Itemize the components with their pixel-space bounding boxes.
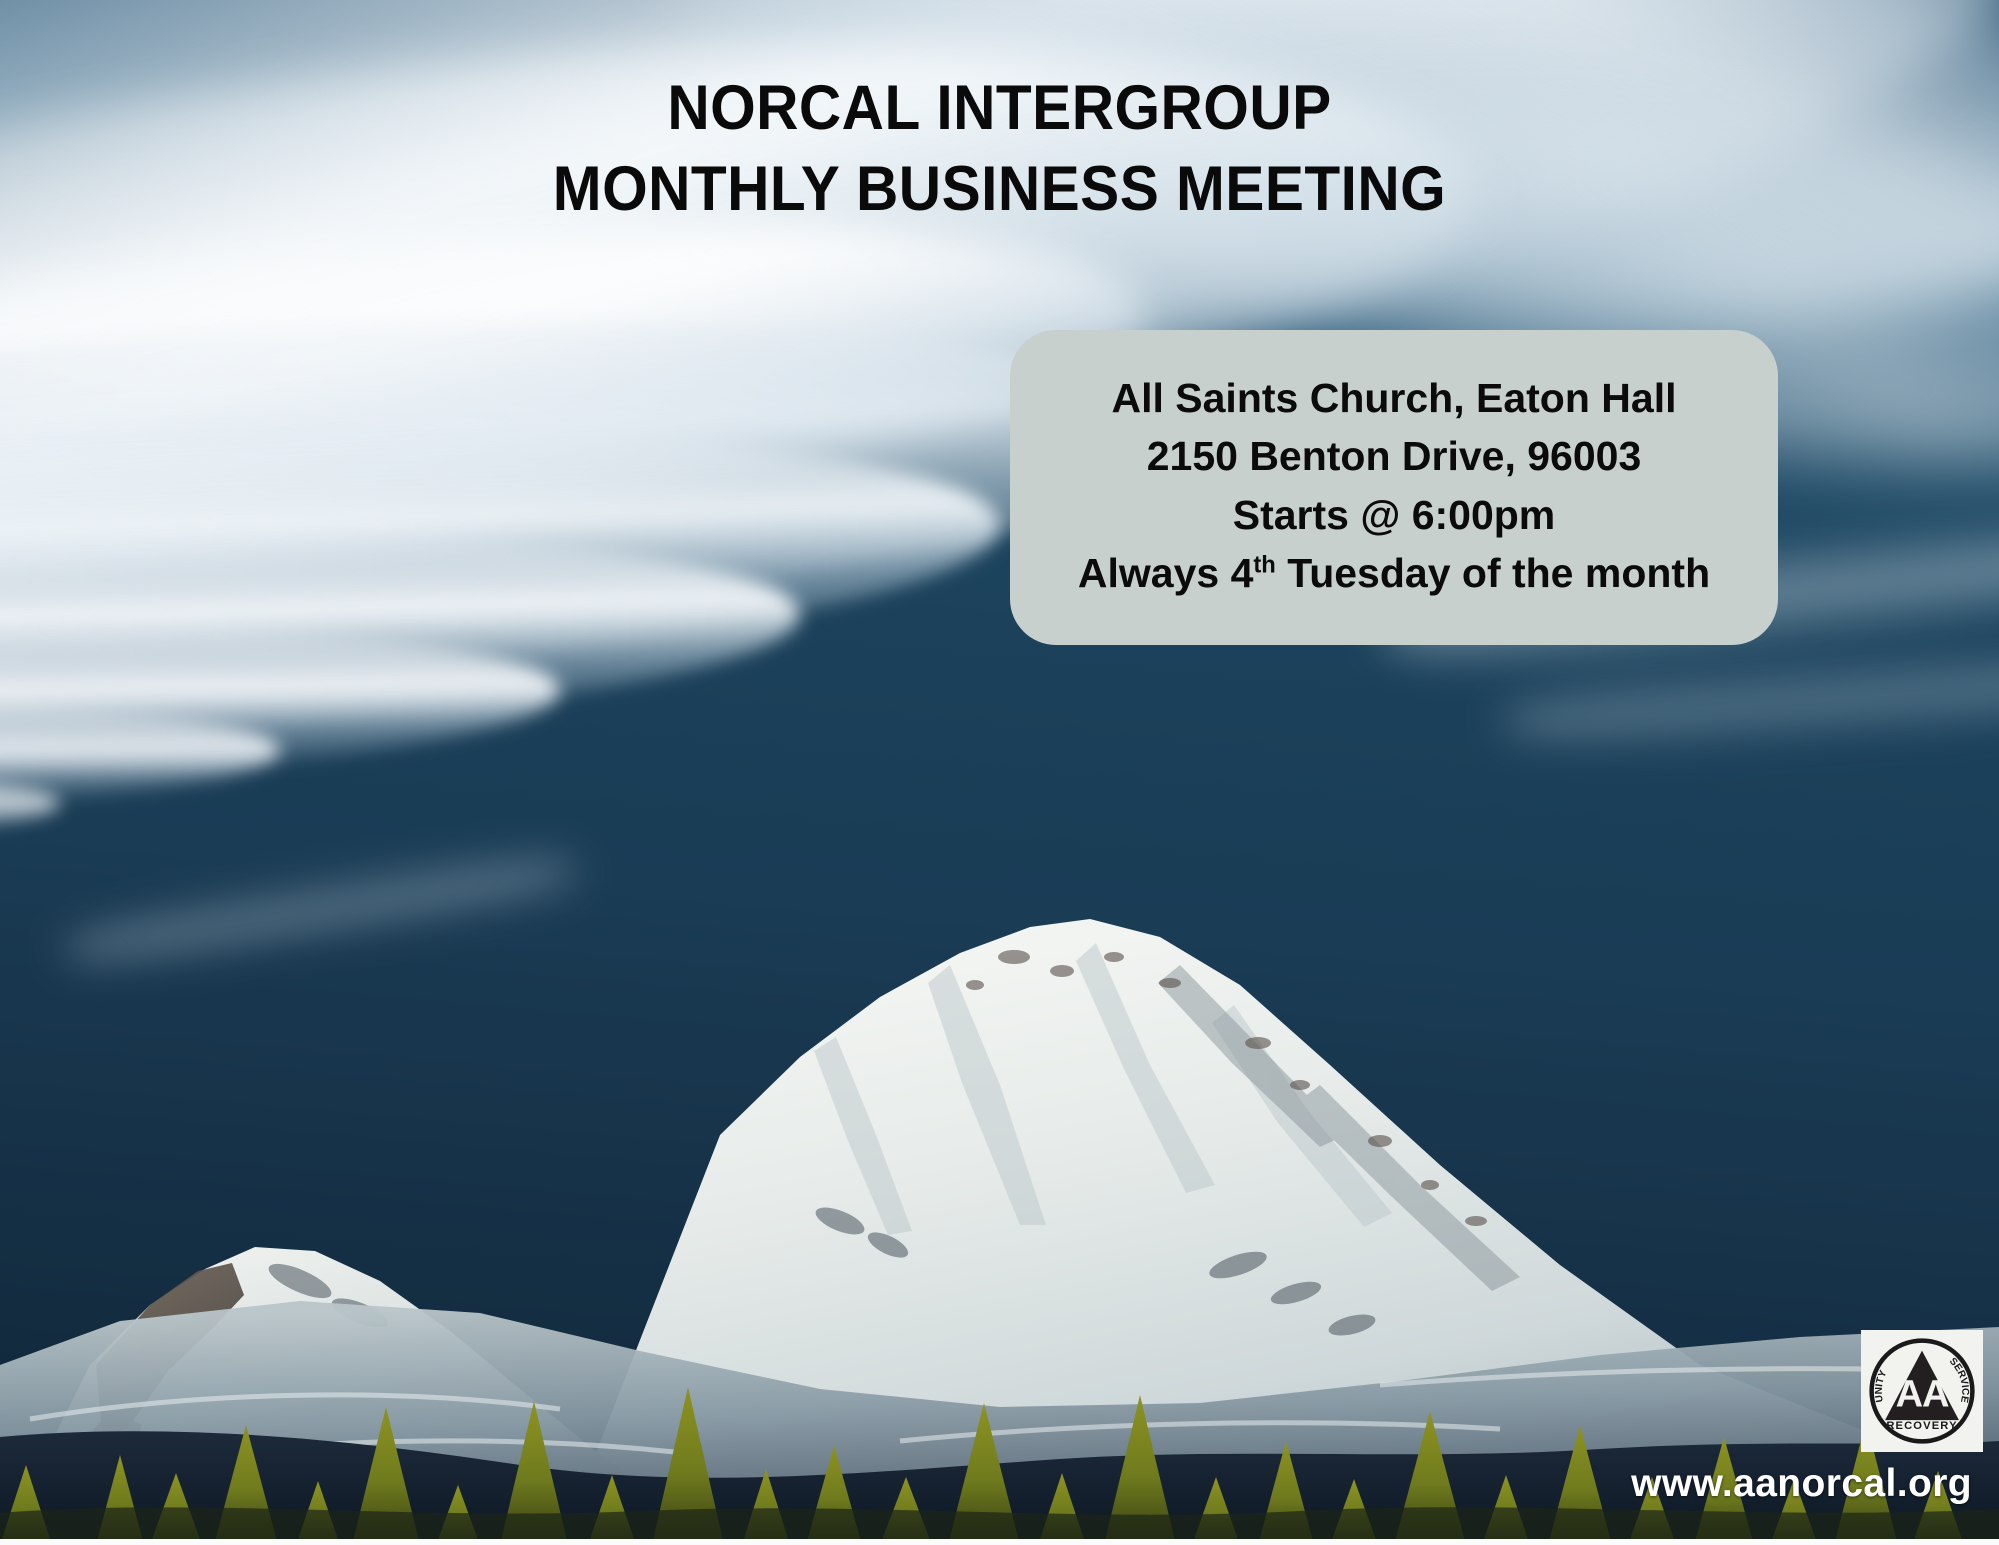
meeting-details-card: All Saints Church, Eaton Hall 2150 Bento… <box>1010 330 1778 645</box>
venue-name: All Saints Church, Eaton Hall <box>1112 369 1677 427</box>
aa-logo-bottom-text: RECOVERY <box>1886 1420 1957 1432</box>
bottom-strip <box>0 1539 1999 1545</box>
title-line-1: NORCAL INTERGROUP <box>70 68 1929 149</box>
poster: NORCAL INTERGROUP MONTHLY BUSINESS MEETI… <box>0 0 1999 1545</box>
page-title: NORCAL INTERGROUP MONTHLY BUSINESS MEETI… <box>70 68 1929 229</box>
aa-logo-right-text: SERVICE <box>1947 1356 1970 1404</box>
aa-logo-center-text: AA <box>1896 1374 1949 1416</box>
website-url[interactable]: www.aanorcal.org <box>1631 1462 1972 1506</box>
start-time: Starts @ 6:00pm <box>1233 486 1556 544</box>
recurrence-ordinal: th <box>1253 551 1275 578</box>
recurrence-suffix: Tuesday of the month <box>1276 550 1710 596</box>
aa-circle-triangle-icon: AA UNITY SERVICE RECOVERY <box>1866 1335 1978 1447</box>
recurrence: Always 4th Tuesday of the month <box>1078 544 1710 602</box>
aa-logo: AA UNITY SERVICE RECOVERY <box>1861 1330 1983 1452</box>
recurrence-prefix: Always 4 <box>1078 550 1254 596</box>
mountain-photo <box>0 665 1999 1545</box>
title-line-2: MONTHLY BUSINESS MEETING <box>70 149 1929 230</box>
venue-address: 2150 Benton Drive, 96003 <box>1147 427 1642 485</box>
